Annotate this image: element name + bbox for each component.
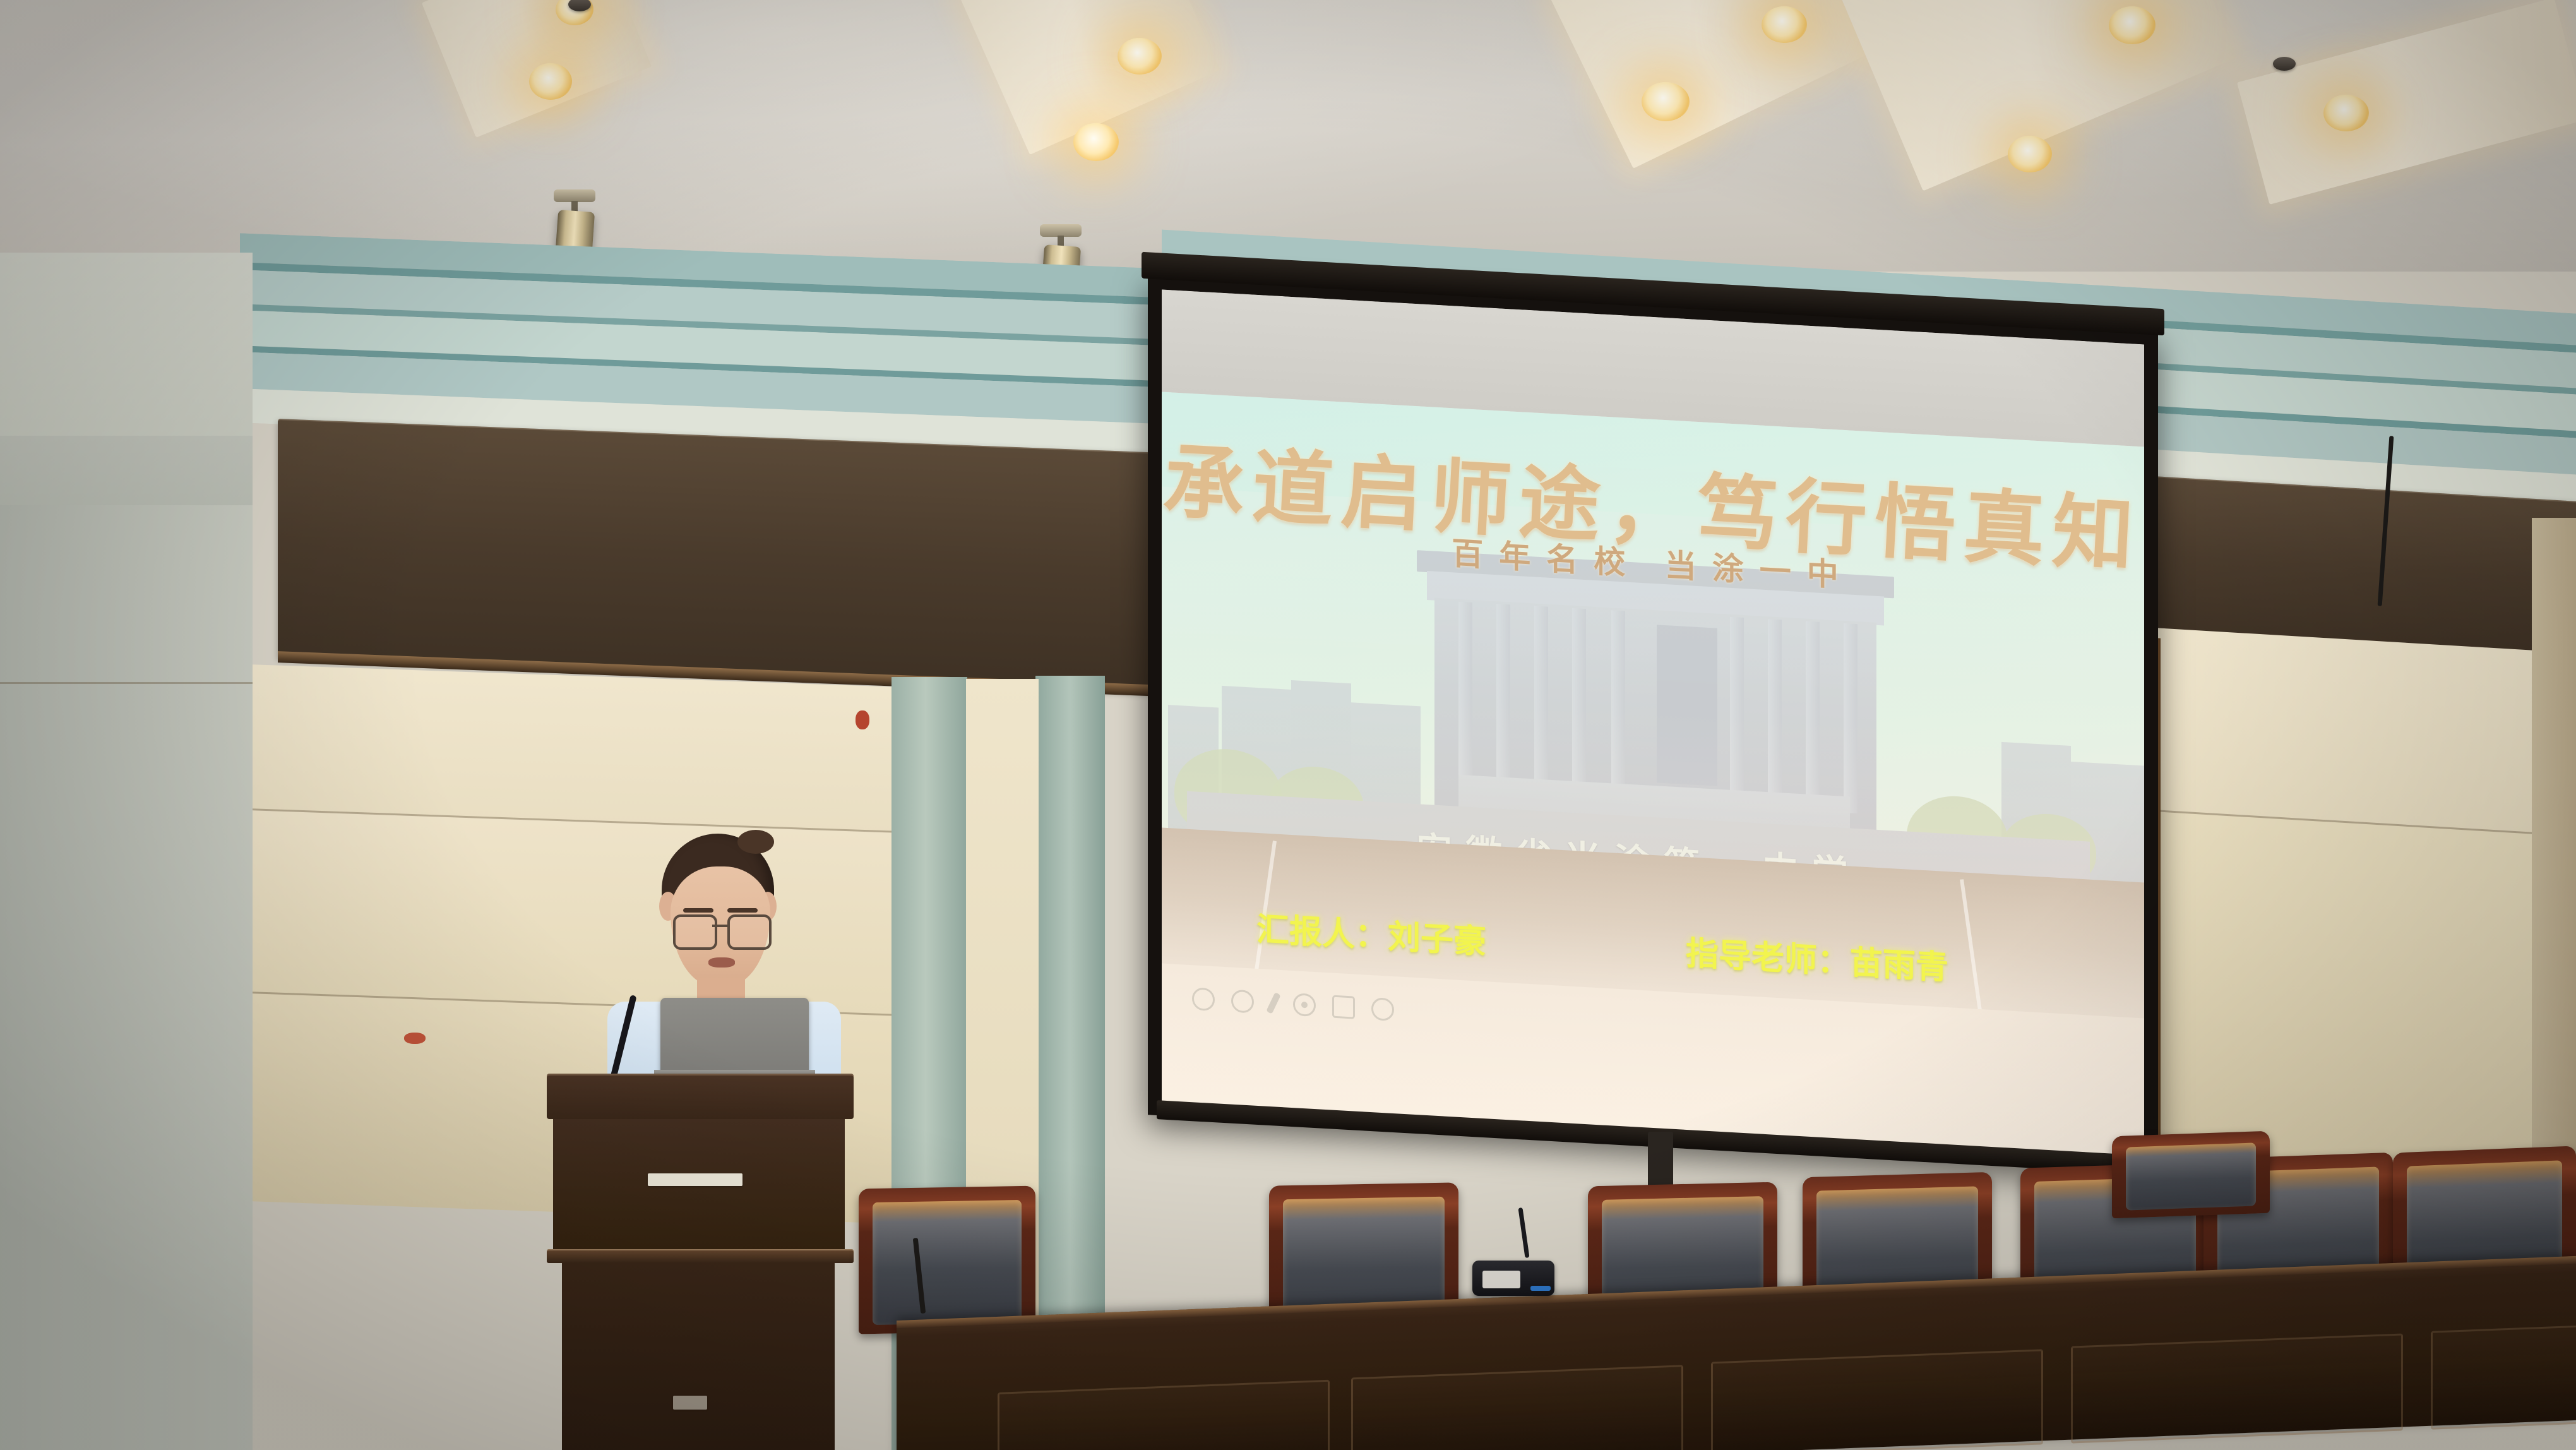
ceiling-downlight: [1642, 82, 1690, 121]
sprinkler-head: [2273, 57, 2296, 71]
wall-stain: [404, 1033, 426, 1044]
ceiling-downlight: [1762, 6, 1807, 43]
wall-pier-left: [0, 505, 253, 1450]
table-front-panel: [2071, 1333, 2403, 1443]
facade-column: [1844, 623, 1857, 813]
facade-column: [1730, 617, 1744, 807]
ceiling-downlight: [2323, 95, 2369, 131]
podium-label: [673, 1396, 707, 1410]
ceiling-downlight: [2008, 136, 2052, 172]
ceiling-downlight: [2109, 6, 2156, 44]
slide-canvas: 安徽省当涂第一中学 承道启师途，笃行悟真知 百年名校 当涂一中 汇报人：刘子豪 …: [1162, 392, 2144, 1157]
chair: [859, 1186, 1035, 1334]
laser-pointer-icon[interactable]: [1293, 993, 1316, 1017]
podium: [547, 1074, 875, 1450]
glasses-lens-left: [673, 914, 717, 950]
next-slide-icon[interactable]: [1231, 990, 1254, 1014]
pen-icon[interactable]: [1266, 992, 1280, 1014]
ceiling-downlight: [1073, 123, 1119, 161]
chair-backrest-pad: [2126, 1142, 2256, 1210]
facade-column: [1806, 621, 1820, 812]
screen-surface: 安徽省当涂第一中学 承道启师途，笃行悟真知 百年名校 当涂一中 汇报人：刘子豪 …: [1162, 290, 2144, 1157]
ceiling-downlight: [529, 63, 572, 100]
spotlight-mount: [1040, 224, 1082, 237]
wall-plaster-left: [0, 253, 253, 442]
mouth: [708, 957, 735, 968]
projection-screen: 安徽省当涂第一中学 承道启师途，笃行悟真知 百年名校 当涂一中 汇报人：刘子豪 …: [1148, 275, 2158, 1171]
chair: [2112, 1131, 2270, 1219]
podium-lip: [547, 1249, 854, 1263]
auditorium-scene: 安徽省当涂第一中学 承道启师途，笃行悟真知 百年名校 当涂一中 汇报人：刘子豪 …: [0, 0, 2576, 1450]
eyebrow-right: [727, 908, 758, 913]
hair-tuft: [737, 830, 774, 854]
table-front-panel: [2431, 1326, 2576, 1430]
conference-microphone: [1472, 1238, 1561, 1307]
microphone-label: [1482, 1271, 1520, 1288]
facade-column: [1572, 608, 1586, 798]
facade-column: [1458, 602, 1472, 792]
glasses-bridge: [712, 925, 729, 927]
table-front-panel: [998, 1380, 1330, 1450]
podium-paper: [648, 1173, 742, 1186]
facade-column: [1611, 610, 1625, 800]
all-slides-icon[interactable]: [1332, 995, 1355, 1019]
spotlight-mount: [554, 189, 595, 202]
blackboard-left: [278, 419, 1162, 693]
wall-stain: [856, 710, 869, 729]
facade-column: [1768, 619, 1782, 809]
zoom-icon[interactable]: [1371, 997, 1394, 1021]
laptop-screen: [660, 998, 809, 1072]
eyebrow-left: [683, 908, 713, 913]
previous-slide-icon[interactable]: [1192, 987, 1215, 1011]
ceiling-downlight: [1118, 38, 1162, 75]
chair-backrest-pad: [873, 1200, 1022, 1325]
pier-seam: [0, 682, 253, 684]
facade-window: [1657, 625, 1717, 786]
glasses-lens-right: [727, 914, 772, 950]
facade-column: [1534, 606, 1548, 796]
facade-column: [1496, 604, 1510, 794]
table-front-panel: [1351, 1365, 1683, 1450]
table-front-panel: [1711, 1349, 2043, 1450]
podium-body: [562, 1263, 835, 1450]
microphone-indicator: [1530, 1286, 1551, 1291]
glasses: [673, 914, 772, 947]
podium-top-ledge: [547, 1074, 854, 1119]
wall-plaster-far-left: [0, 436, 253, 512]
